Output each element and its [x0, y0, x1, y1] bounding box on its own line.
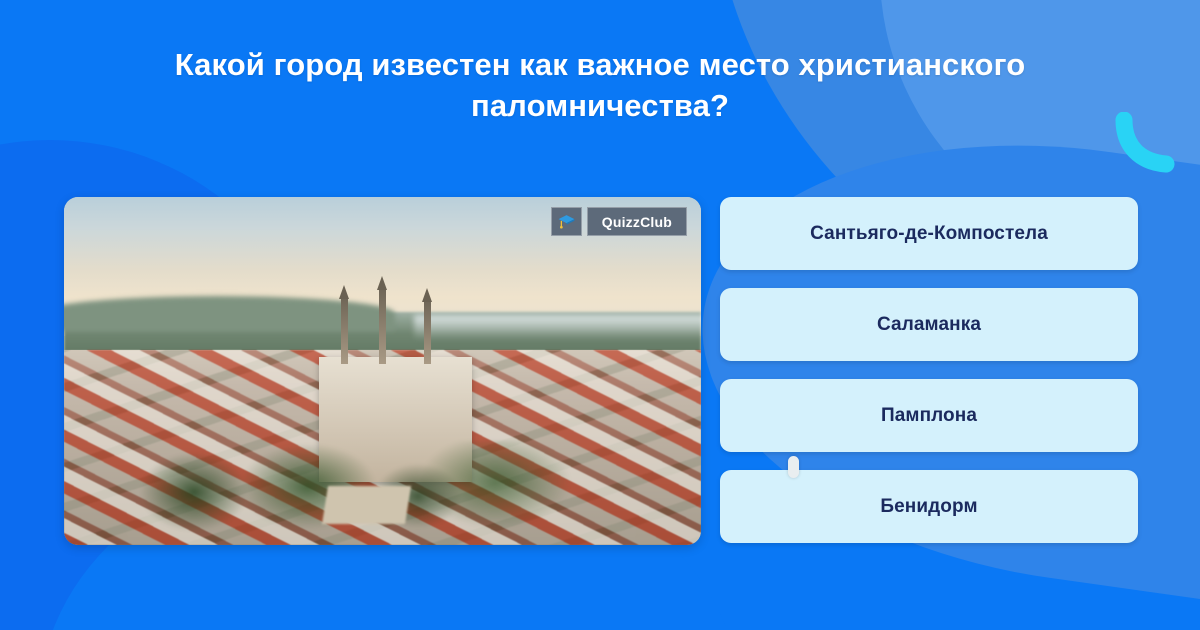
photo-cathedral-spire — [424, 301, 431, 364]
watermark: QuizzClub — [551, 207, 687, 236]
page-title: Какой город известен как важное место хр… — [70, 44, 1130, 126]
answer-options-list: Сантьяго-де-Компостела Саламанка Памплон… — [720, 197, 1138, 543]
answer-option-3[interactable]: Памплона — [720, 379, 1138, 452]
answer-option-4[interactable]: Бенидорм — [720, 470, 1138, 543]
answer-option-label: Сантьяго-де-Компостела — [810, 223, 1048, 245]
answer-option-label: Бенидорм — [880, 496, 977, 518]
option-divider-nub — [788, 456, 799, 478]
watermark-brand-label: QuizzClub — [587, 207, 687, 236]
city-photo — [64, 197, 701, 545]
question-image-card: QuizzClub — [64, 197, 701, 545]
graduation-cap-icon — [551, 207, 582, 236]
answer-option-label: Саламанка — [877, 314, 981, 336]
photo-haze — [414, 315, 701, 339]
photo-plaza — [322, 486, 411, 524]
question-card-stage: Какой город известен как важное место хр… — [0, 0, 1200, 630]
answer-option-2[interactable]: Саламанка — [720, 288, 1138, 361]
answer-option-label: Памплона — [881, 405, 977, 427]
photo-cathedral-spire — [341, 298, 348, 364]
photo-cathedral-spire — [379, 289, 386, 364]
answer-option-1[interactable]: Сантьяго-де-Компостела — [720, 197, 1138, 270]
